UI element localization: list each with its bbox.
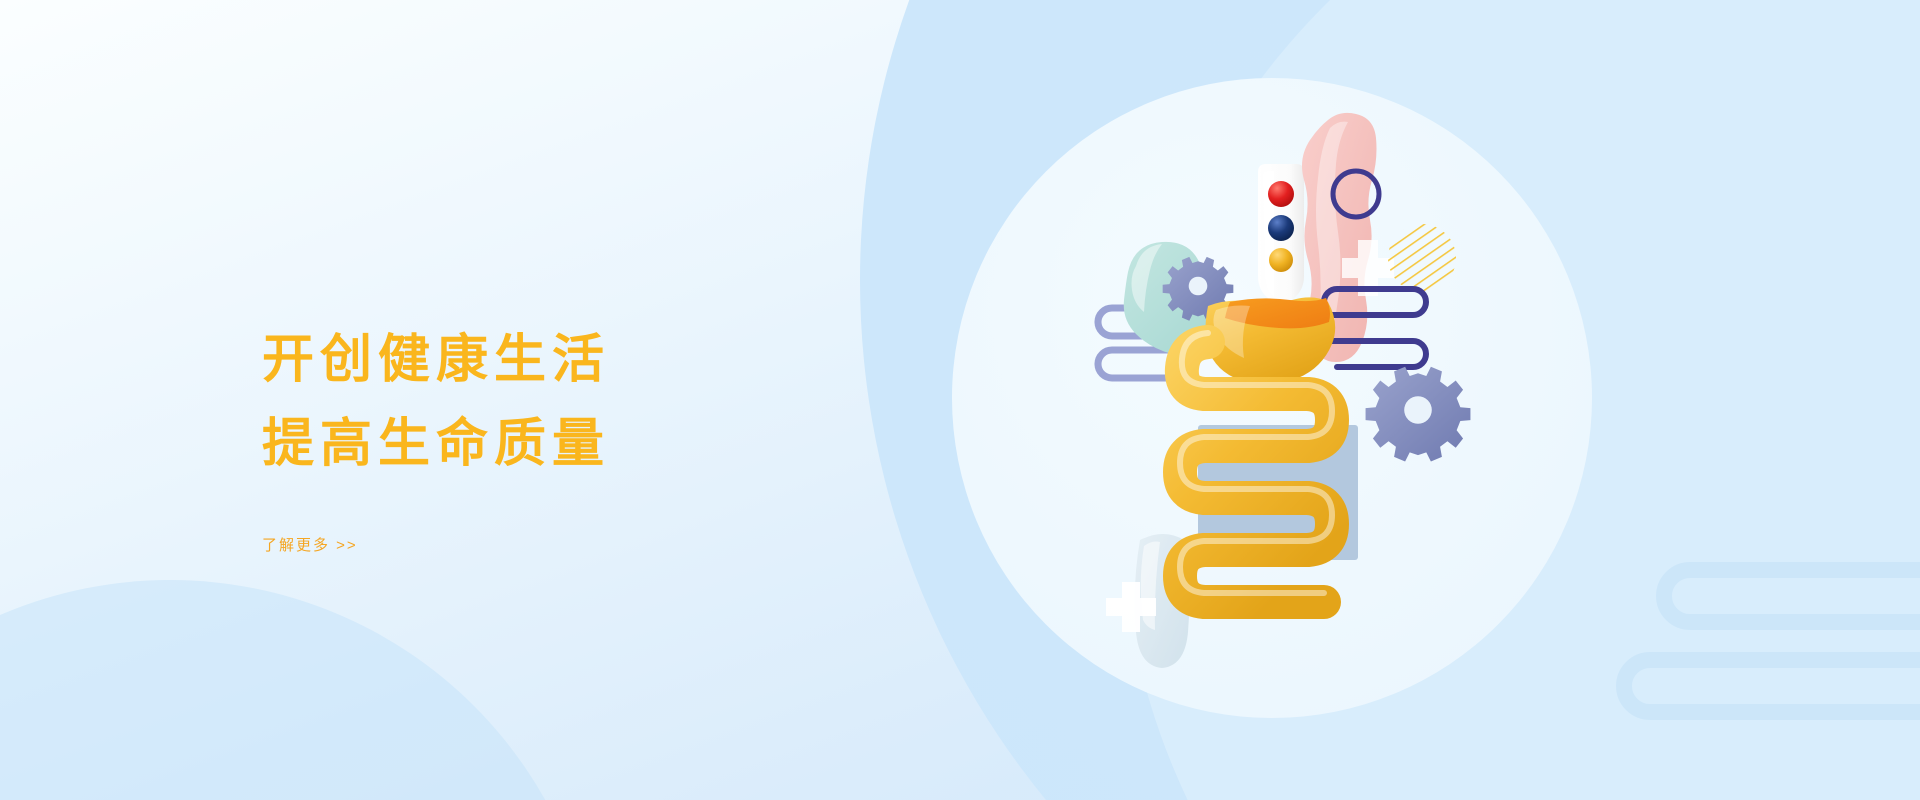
learn-more-link[interactable]: 了解更多 >> [262, 534, 358, 555]
striped-circle [1388, 224, 1456, 292]
test-tube [1258, 164, 1304, 306]
banner-copy-block: 开创健康生活 提高生命质量 了解更多 >> [262, 318, 882, 555]
health-banner: 开创健康生活 提高生命质量 了解更多 >> [0, 0, 1920, 800]
background-blob-bottom-left [0, 580, 600, 800]
gear-large [1366, 367, 1471, 462]
headline-line-2: 提高生命质量 [262, 402, 882, 486]
test-tube-dot-amber [1269, 248, 1293, 272]
test-tube-dot-navy [1268, 215, 1294, 241]
digestive-system-illustration [1080, 110, 1500, 690]
test-tube-dot-red [1268, 181, 1294, 207]
headline-line-1: 开创健康生活 [262, 318, 882, 402]
background-squiggle-decoration [1540, 530, 1920, 770]
